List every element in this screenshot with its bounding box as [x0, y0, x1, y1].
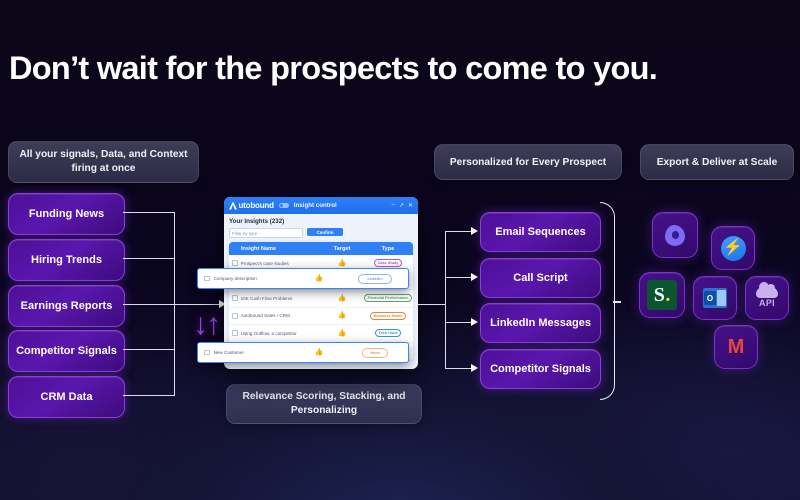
- column-insight-name: Insight Name: [229, 246, 321, 252]
- floating-row-label: Company description: [214, 276, 257, 281]
- thumbs-up-icon: 👍: [338, 330, 347, 337]
- connector-compsig: [445, 368, 473, 369]
- output-group-brace: [600, 202, 615, 400]
- caption-personalized: Personalized for Every Prospect: [434, 144, 622, 180]
- arrow-compsig: [471, 364, 478, 372]
- floating-row-type: News: [342, 348, 408, 358]
- outlook-icon: O: [703, 288, 727, 308]
- integration-tile-gmail[interactable]: M: [714, 325, 758, 369]
- floating-row-badge: News: [362, 348, 388, 358]
- table-row[interactable]: Autobound Sales / CRM👍Business Model: [229, 308, 413, 326]
- cell-type: Tech Used: [363, 329, 413, 337]
- cell-insight-name: 10K Cash Flow Problems: [229, 295, 321, 301]
- output-card-call-script[interactable]: Call Script: [480, 258, 601, 298]
- caption-export: Export & Deliver at Scale: [640, 144, 794, 180]
- caption-relevance: Relevance Scoring, Stacking, and Persona…: [226, 384, 422, 424]
- integration-tile-smartlead[interactable]: S.: [639, 272, 685, 318]
- thumbs-up-icon: 👍: [338, 260, 347, 267]
- connector-hiring: [123, 258, 175, 259]
- connector-earnings: [123, 304, 175, 305]
- column-target: Target: [321, 246, 363, 252]
- thumbs-up-icon: 👍: [338, 295, 347, 302]
- integration-tile-salesloft[interactable]: ⚡: [711, 226, 755, 270]
- clay-icon: [665, 225, 685, 246]
- thumbs-up-icon: 👍: [315, 349, 324, 356]
- floating-row-target: 👍: [296, 349, 342, 356]
- autobound-logo-icon: [229, 202, 237, 210]
- integration-tile-api[interactable]: API: [745, 276, 789, 320]
- slide-canvas: Don’t wait for the prospects to come to …: [0, 0, 800, 500]
- connector-funding: [123, 212, 175, 213]
- connector-crm: [123, 395, 175, 396]
- table-header: Insight Name Target Type: [229, 242, 413, 255]
- cell-type: Financial Performance: [363, 294, 413, 302]
- checkbox-icon[interactable]: [232, 330, 238, 336]
- caption-inputs: All your signals, Data, and Context firi…: [8, 141, 199, 183]
- type-badge: Case Study: [374, 259, 403, 267]
- floating-row-badge: LinkedIn: [358, 274, 391, 284]
- table-row[interactable]: Using Outflow, a competitor👍Tech Used: [229, 325, 413, 343]
- floating-row-type: LinkedIn: [342, 274, 408, 284]
- input-card-crm-data[interactable]: CRM Data: [8, 376, 125, 418]
- page-title: Don’t wait for the prospects to come to …: [9, 52, 657, 85]
- insight-control-toggle[interactable]: [279, 203, 289, 209]
- app-brand-name: utobound: [239, 201, 274, 210]
- checkbox-icon[interactable]: [204, 276, 210, 282]
- floating-row-company-description[interactable]: Company description 👍 LinkedIn: [197, 268, 409, 289]
- integration-tile-clay[interactable]: [652, 212, 698, 258]
- connector-linkedin: [445, 322, 473, 323]
- connector-call: [445, 277, 473, 278]
- cell-insight-name: Prospect’s case studies: [229, 260, 321, 266]
- input-card-competitor-signals[interactable]: Competitor Signals: [8, 330, 125, 372]
- minimize-icon[interactable]: –: [392, 202, 395, 209]
- maximize-icon[interactable]: ↗: [399, 202, 404, 209]
- floating-row-target: 👍: [296, 275, 342, 282]
- table-row[interactable]: 10K Cash Flow Problems👍Financial Perform…: [229, 290, 413, 308]
- output-card-competitor-signals[interactable]: Competitor Signals: [480, 349, 601, 389]
- window-controls: – ↗ ✕: [392, 202, 413, 209]
- input-card-earnings-reports[interactable]: Earnings Reports: [8, 285, 125, 327]
- output-card-email-sequences[interactable]: Email Sequences: [480, 212, 601, 252]
- type-badge: Tech Used: [375, 329, 402, 337]
- cell-type: Case Study: [363, 259, 413, 267]
- insight-name-text: Using Outflow, a competitor: [241, 331, 297, 336]
- gmail-icon: M: [724, 338, 748, 356]
- output-card-linkedin-messages[interactable]: LinkedIn Messages: [480, 303, 601, 343]
- cell-target: 👍: [321, 295, 363, 302]
- floating-row-label: New Customer: [214, 350, 244, 355]
- cell-target: 👍: [321, 260, 363, 267]
- insight-name-text: Prospect’s case studies: [241, 261, 289, 266]
- app-logo: utobound: [229, 201, 274, 210]
- insight-control-label: Insight control: [294, 202, 337, 209]
- api-cloud-icon: API: [756, 287, 778, 309]
- smartlead-icon: S.: [647, 280, 677, 310]
- thumbs-up-icon: 👍: [315, 275, 324, 282]
- checkbox-icon[interactable]: [232, 295, 238, 301]
- type-badge: Business Model: [370, 312, 407, 320]
- thumbs-up-icon: 👍: [338, 312, 347, 319]
- insight-name-text: Autobound Sales / CRM: [241, 313, 290, 318]
- floating-row-new-customer[interactable]: New Customer 👍 News: [197, 342, 409, 363]
- connector-email: [445, 231, 473, 232]
- integration-tile-outlook[interactable]: O: [693, 276, 737, 320]
- column-type: Type: [363, 246, 413, 252]
- lightning-bolt-icon: ⚡: [721, 236, 746, 261]
- floating-row-name: New Customer: [198, 350, 296, 356]
- filter-row: Filter by type Confirm: [229, 228, 413, 238]
- cell-target: 👍: [321, 330, 363, 337]
- cell-insight-name: Using Outflow, a competitor: [229, 330, 321, 336]
- connector-competitor: [123, 349, 175, 350]
- checkbox-icon[interactable]: [204, 350, 210, 356]
- cell-insight-name: Autobound Sales / CRM: [229, 313, 321, 319]
- insights-heading: Your Insights (232): [229, 218, 413, 225]
- checkbox-icon[interactable]: [232, 260, 238, 266]
- insight-name-text: 10K Cash Flow Problems: [241, 296, 293, 301]
- type-badge: Financial Performance: [364, 294, 413, 302]
- checkbox-icon[interactable]: [232, 313, 238, 319]
- arrow-linkedin: [471, 318, 478, 326]
- connector-output-bus: [445, 231, 446, 368]
- close-icon[interactable]: ✕: [408, 202, 413, 209]
- connector-app-out: [418, 304, 446, 305]
- app-title-bar: utobound Insight control – ↗ ✕: [224, 197, 418, 214]
- cell-type: Business Model: [363, 312, 413, 320]
- arrow-email: [471, 227, 478, 235]
- floating-row-name: Company description: [198, 276, 296, 282]
- arrow-call: [471, 273, 478, 281]
- input-card-funding-news[interactable]: Funding News: [8, 193, 125, 235]
- filter-input[interactable]: Filter by type: [229, 228, 303, 238]
- swap-arrows-icon: ↓↑: [193, 306, 227, 344]
- input-card-hiring-trends[interactable]: Hiring Trends: [8, 239, 125, 281]
- filter-confirm-button[interactable]: Confirm: [307, 228, 343, 236]
- cell-target: 👍: [321, 312, 363, 319]
